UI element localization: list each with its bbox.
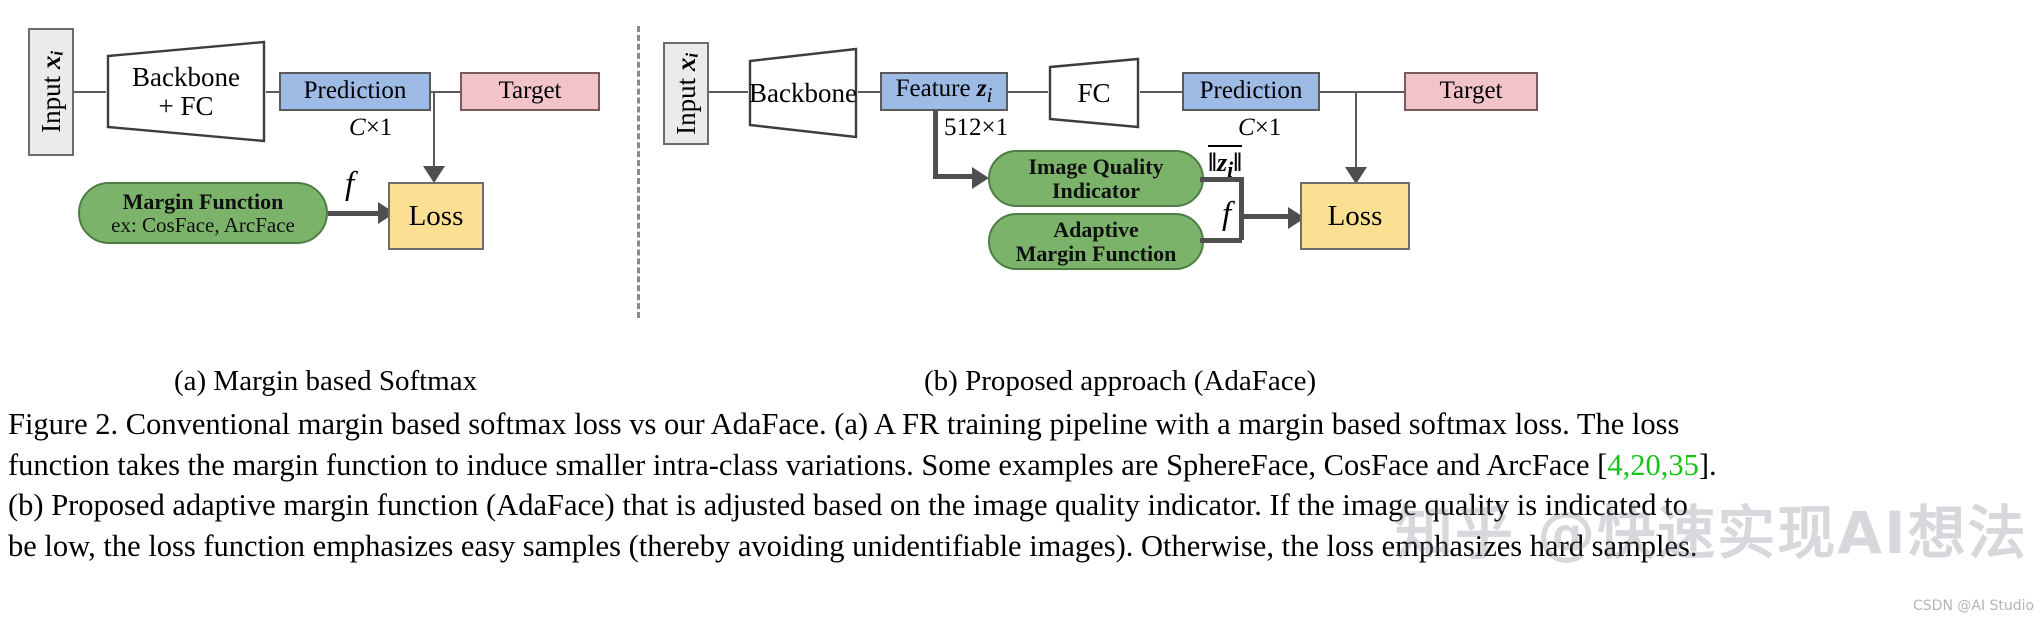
panel-b-iqi-line-2: Indicator (1052, 179, 1140, 202)
panel-b-wire-iqi-down (1239, 177, 1244, 240)
panel-b-prediction-label: Prediction (1200, 78, 1303, 104)
panel-b-wire-prediction-target (1320, 91, 1404, 93)
caption-text: Figure 2. Conventional margin based soft… (8, 407, 1679, 441)
panel-a-backbone-label-2: + FC (158, 92, 213, 121)
panel-b-f-symbol: f (1222, 196, 1231, 233)
panel-b-loss-label: Loss (1328, 201, 1383, 231)
panel-b-wire-amf-out (1200, 238, 1242, 243)
panel-b-fc-label: FC (1077, 79, 1110, 108)
panel-a-target-box: Target (460, 72, 600, 111)
panel-a-wire-margin-loss (328, 211, 380, 216)
panel-a-margin-title: Margin Function (123, 190, 284, 213)
panel-a-wire-input-backbone (74, 91, 106, 93)
panel-b-arrow-to-iqi (972, 167, 989, 189)
caption-line-2: function takes the margin function to in… (8, 445, 2038, 486)
panel-a-wire-prediction-target (431, 91, 460, 93)
panel-b-loss-box: Loss (1300, 182, 1410, 250)
panel-a-f-symbol: f (345, 166, 354, 203)
panel-b-wire-bus-loss (1239, 214, 1291, 219)
panel-a-margin-subtitle: ex: CosFace, ArcFace (111, 214, 295, 236)
panel-a-input-box: Input xi (28, 28, 74, 156)
panel-a-loss-box: Loss (388, 182, 484, 250)
panel-b-wire-input-backbone (709, 91, 748, 93)
panel-b-input-label: Input xi (672, 53, 701, 135)
panel-divider (637, 26, 640, 318)
panel-b-wire-feature-fc (1008, 91, 1048, 93)
caption-line-1: Figure 2. Conventional margin based soft… (8, 404, 2038, 445)
panel-a-backbone-trapezoid: Backbone + FC (106, 40, 266, 143)
panel-a-prediction-dim: C×1 (349, 114, 392, 142)
panel-b-wire-junction-loss (1355, 91, 1357, 175)
panel-a-prediction-box: Prediction (279, 72, 431, 111)
panel-b-amf-line-2: Margin Function (1016, 242, 1177, 265)
panel-a-prediction-label: Prediction (304, 78, 407, 104)
panel-b-feature-label: Feature zi (896, 76, 993, 107)
panel-b-backbone-label: Backbone (749, 79, 857, 108)
panel-b-wire-feature-right (933, 174, 975, 179)
panel-b-prediction-box: Prediction (1182, 72, 1320, 111)
panel-a-loss-label: Loss (409, 201, 464, 231)
panel-a-backbone-label-1: Backbone (132, 63, 240, 92)
figure-2: Input xi Backbone + FC Prediction C×1 Ta… (0, 0, 2044, 619)
panel-b-wire-fc-prediction (1140, 91, 1182, 93)
panel-b-wire-iqi-out (1200, 177, 1242, 182)
panel-b-input-box: Input xi (663, 42, 709, 145)
caption-citation: 35 (1668, 448, 1699, 482)
panel-b-backbone-trapezoid: Backbone (748, 47, 858, 139)
panel-b-image-quality-indicator-oval: Image Quality Indicator (988, 150, 1204, 207)
panel-a-margin-function-oval: Margin Function ex: CosFace, ArcFace (78, 182, 328, 244)
panel-a-arrow-to-loss (423, 166, 445, 183)
panel-b-wire-feature-down (933, 111, 938, 179)
panel-b-iqi-line-1: Image Quality (1028, 155, 1163, 178)
panel-a-wire-backbone-prediction (266, 91, 279, 93)
panel-b-wire-backbone-feature (858, 91, 880, 93)
caption-text: function takes the margin function to in… (8, 448, 1607, 482)
panel-b-prediction-dim: C×1 (1238, 114, 1281, 142)
panel-b-amf-line-1: Adaptive (1053, 218, 1139, 241)
caption-citation: 20 (1630, 448, 1661, 482)
panel-a-target-label: Target (498, 78, 561, 104)
caption-text: ]. (1699, 448, 1717, 482)
panel-b-subcaption: (b) Proposed approach (AdaFace) (924, 365, 1316, 398)
zhihu-watermark: 知乎 @快速实现AI想法 (1395, 486, 2028, 570)
panel-b-adaptive-margin-function-oval: Adaptive Margin Function (988, 213, 1204, 270)
panel-b-feature-dim: 512×1 (944, 114, 1008, 142)
panel-b-fc-trapezoid: FC (1048, 57, 1140, 129)
panel-a-input-label: Input xi (37, 51, 66, 133)
panel-a-subcaption: (a) Margin based Softmax (174, 365, 477, 398)
csdn-watermark: CSDN @AI Studio (1913, 598, 2034, 614)
panel-a-wire-junction-loss (433, 91, 435, 174)
panel-b-feature-box: Feature zi (880, 72, 1008, 111)
caption-citation: 4 (1607, 448, 1622, 482)
panel-b-target-box: Target (1404, 72, 1538, 111)
panel-b-target-label: Target (1439, 78, 1502, 104)
